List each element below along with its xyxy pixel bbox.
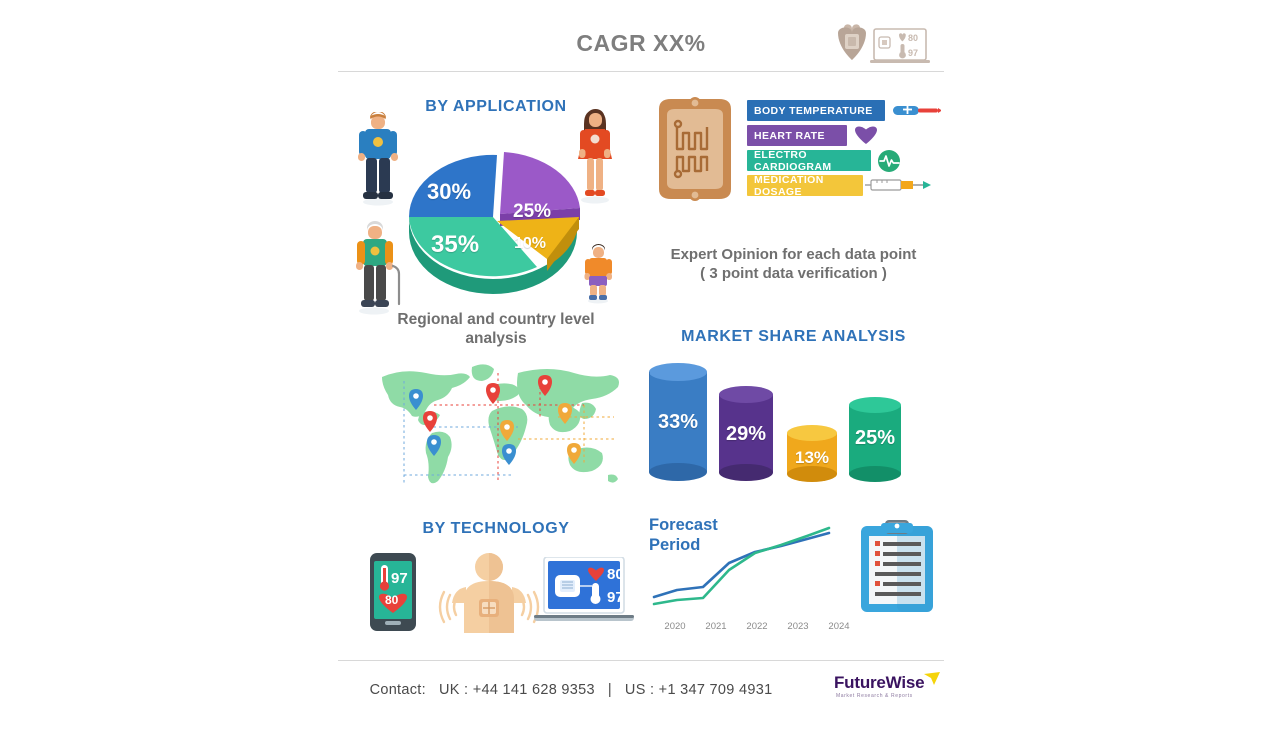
regional-analysis-panel: Regional and country level analysis [346,305,646,505]
cylinder-label-1: 33% [649,411,707,434]
by-technology-title: BY TECHNOLOGY [346,520,646,538]
us-number: +1 347 709 4931 [659,682,773,698]
cylinder-label-4: 25% [849,427,901,450]
laptop-vitals-icon-tech: 80 97 [534,557,634,634]
by-technology-panel: BY TECHNOLOGY 97 80 [346,505,646,650]
syringe-icon [859,176,935,199]
page-canvas: CAGR XX% 80 [0,0,1280,731]
body-sensor-icon [434,551,544,638]
sensor-row-medication-dosage: MEDICATION DOSAGE [747,175,942,196]
forecast-series-upper [654,533,829,597]
sensor-bar-electro-cardiogram: ELECTRO CARDIOGRAM [747,150,871,171]
cylinder-bar-4: 25% [849,397,901,482]
contact-separator: | [608,682,612,698]
futurewise-logo[interactable]: FutureWise Market Research & Reports [834,673,942,705]
infographic: CAGR XX% 80 [336,0,946,731]
phone-heart-value: 80 [385,593,399,607]
laptop-tech-temp-value: 97 [607,589,624,606]
expert-opinion-line2: ( 3 point data verification ) [641,264,946,283]
forecast-year-2020: 2020 [658,621,692,632]
uk-label: UK : [439,682,468,698]
market-share-panel: MARKET SHARE ANALYSIS 33% 29% [641,300,946,505]
laptop-vitals-icon: 80 97 [870,29,930,63]
thermometer-icon [893,102,941,124]
logo-name: FutureWise [834,673,924,693]
sensor-panel: BODY TEMPERATURE HEART RATE [641,80,946,295]
pie-slice-label-10: 10% [514,235,546,253]
forecast-year-2021: 2021 [699,621,733,632]
world-map [368,355,624,495]
map-pin-north-america-south [423,411,437,432]
biosensor-chip-icon [649,93,741,210]
pie-slice-label-30: 30% [427,179,471,205]
forecast-line-chart [651,525,851,615]
forecast-year-2022: 2022 [740,621,774,632]
regional-title-line1: Regional and country level [354,310,638,329]
expert-opinion-line1: Expert Opinion for each data point [641,245,946,264]
cylinder-bar-2: 29% [719,386,773,481]
contact-label: Contact: [370,682,426,698]
cylinder-bar-3: 13% [787,425,837,482]
header-divider [338,71,944,72]
contact-line: Contact: UK : +44 141 628 9353 | US : +1… [336,682,806,698]
forecast-year-2023: 2023 [781,621,815,632]
laptop-heart-value-text: 80 [908,33,918,43]
laptop-tech-heart-value: 80 [607,566,624,583]
person-adult-man [352,112,404,213]
header: CAGR XX% 80 [336,0,946,72]
sensor-bar-heart-rate: HEART RATE [747,125,847,146]
logo-flag-icon [923,671,941,687]
phone-temp-value: 97 [391,570,408,587]
uk-number: +44 141 628 9353 [473,682,595,698]
sensor-row-body-temperature: BODY TEMPERATURE [747,100,942,121]
pie-chart: 30% 25% 10% 35% [401,125,586,305]
header-icons: 80 97 [826,22,936,68]
sensor-row-electro-cardiogram: ELECTRO CARDIOGRAM [747,150,942,171]
heart-icon [855,125,877,150]
laptop-temp-value-text: 97 [908,48,918,58]
forecast-year-2024: 2024 [822,621,856,632]
cylinder-label-2: 29% [719,423,773,446]
regional-analysis-title: Regional and country level analysis [354,310,638,348]
sensor-row-heart-rate: HEART RATE [747,125,942,146]
forecast-panel: Forecast Period 2020 2021 2022 2023 2024 [641,505,946,650]
market-share-title: MARKET SHARE ANALYSIS [641,328,946,346]
sensor-bar-body-temperature: BODY TEMPERATURE [747,100,885,121]
map-pin-africa-south [502,444,516,465]
logo-tagline: Market Research & Reports [836,693,913,699]
regional-title-line2: analysis [354,329,638,348]
pie-slice-label-35: 35% [431,231,479,259]
by-application-panel: BY APPLICATION [346,80,646,310]
sensor-bar-medication-dosage: MEDICATION DOSAGE [747,175,863,196]
us-label: US : [625,682,654,698]
expert-opinion-text: Expert Opinion for each data point ( 3 p… [641,245,946,283]
heart-device-icon [838,24,866,60]
cylinder-label-3: 13% [787,448,837,468]
clipboard-checklist-icon [861,520,933,617]
ecg-pulse-icon [877,149,901,178]
cylinder-bar-1: 33% [649,363,707,481]
pie-slice-label-25: 25% [513,201,551,223]
smartphone-vitals-icon: 97 80 [370,553,416,636]
footer-divider [338,660,944,661]
